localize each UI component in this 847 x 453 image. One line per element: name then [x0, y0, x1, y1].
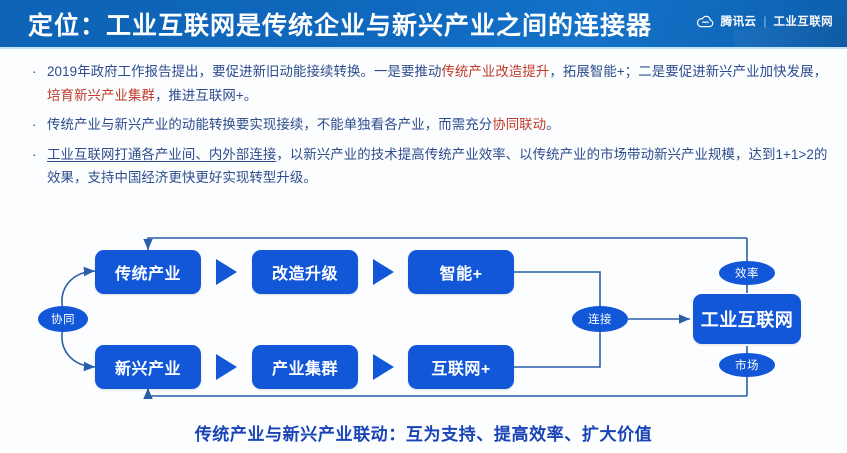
node-industry-cluster[interactable]: 产业集群: [252, 345, 358, 389]
bullet-list: ·2019年政府工作报告提出，要促进新旧动能接续转换。一是要推动传统产业改造提升…: [30, 60, 830, 196]
bullet-seg: 2019年政府工作报告提出，要促进新旧动能接续转换。一是要推动: [47, 64, 441, 79]
pill-efficiency[interactable]: 效率: [719, 261, 775, 285]
pill-label: 连接: [588, 311, 612, 327]
slide-header: 定位：工业互联网是传统企业与新兴产业之间的连接器 腾讯云 | 工业互联网: [0, 0, 847, 47]
node-label: 智能+: [440, 260, 483, 284]
arrow-triangle-icon: [373, 354, 394, 380]
tencent-cloud-logo-icon: [697, 15, 714, 28]
bullet-seg: ，推进互联网+。: [155, 88, 257, 103]
pill-synergy[interactable]: 协同: [38, 306, 88, 332]
node-label: 传统产业: [115, 260, 181, 284]
bullet-seg-highlight: 协同联动: [492, 117, 546, 132]
node-internet-plus[interactable]: 互联网+: [408, 345, 514, 389]
arrow-triangle-icon: [373, 259, 394, 285]
node-label: 产业集群: [272, 355, 338, 379]
bullet-seg-highlight: 传统产业改造提升: [441, 64, 549, 79]
bullet-item-1: ·2019年政府工作报告提出，要促进新旧动能接续转换。一是要推动传统产业改造提升…: [30, 60, 830, 107]
bullet-marker: ·: [32, 143, 37, 167]
bullet-item-2: ·传统产业与新兴产业的动能转换要实现接续，不能单独看各产业，而需充分协同联动。: [30, 113, 830, 137]
arrow-triangle-icon: [216, 259, 237, 285]
pill-label: 效率: [735, 265, 759, 281]
flow-diagram: 传统产业 改造升级 智能+ 新兴产业 产业集群 互联网+ 协同 连接 效率: [0, 232, 847, 400]
node-industrial-internet[interactable]: 工业互联网: [693, 294, 801, 344]
brand-name: 腾讯云: [721, 13, 757, 29]
bullet-seg-highlight: 培育新兴产业集群: [47, 88, 155, 103]
brand-subtitle: 工业互联网: [774, 13, 834, 29]
node-intelligent-plus[interactable]: 智能+: [408, 250, 514, 294]
bullet-seg: 传统产业与新兴产业的动能转换要实现接续，不能单独看各产业，而需充分: [47, 117, 492, 132]
node-transform-upgrade[interactable]: 改造升级: [252, 250, 358, 294]
pill-market[interactable]: 市场: [719, 353, 775, 377]
bullet-seg: ，拓展智能+；二是要促进新兴产业加快发展，: [549, 64, 827, 79]
pill-connection[interactable]: 连接: [572, 306, 628, 332]
pill-label: 市场: [735, 357, 759, 373]
bullet-seg: 。: [546, 117, 560, 132]
slide-root: 定位：工业互联网是传统企业与新兴产业之间的连接器 腾讯云 | 工业互联网 ·20…: [0, 0, 847, 453]
pill-label: 协同: [51, 311, 75, 327]
node-traditional-industry[interactable]: 传统产业: [95, 250, 201, 294]
page-title: 定位：工业互联网是传统企业与新兴产业之间的连接器: [28, 6, 652, 42]
node-label: 工业互联网: [701, 306, 794, 332]
brand-separator: |: [763, 15, 766, 27]
node-label: 新兴产业: [115, 355, 181, 379]
brand-lockup: 腾讯云 | 工业互联网: [697, 13, 833, 29]
node-emerging-industry[interactable]: 新兴产业: [95, 345, 201, 389]
bullet-marker: ·: [32, 113, 37, 137]
node-label: 互联网+: [431, 355, 490, 379]
node-label: 改造升级: [272, 260, 338, 284]
slide-caption: 传统产业与新兴产业联动：互为支持、提高效率、扩大价值: [0, 420, 847, 445]
bullet-item-3: ·工业互联网打通各产业间、内外部连接，以新兴产业的技术提高传统产业效率、以传统产…: [30, 143, 830, 190]
bullet-seg-underlined: 工业互联网打通各产业间、内外部连接: [47, 147, 276, 162]
arrow-triangle-icon: [216, 354, 237, 380]
header-underline: [0, 47, 847, 49]
bullet-marker: ·: [32, 60, 37, 84]
